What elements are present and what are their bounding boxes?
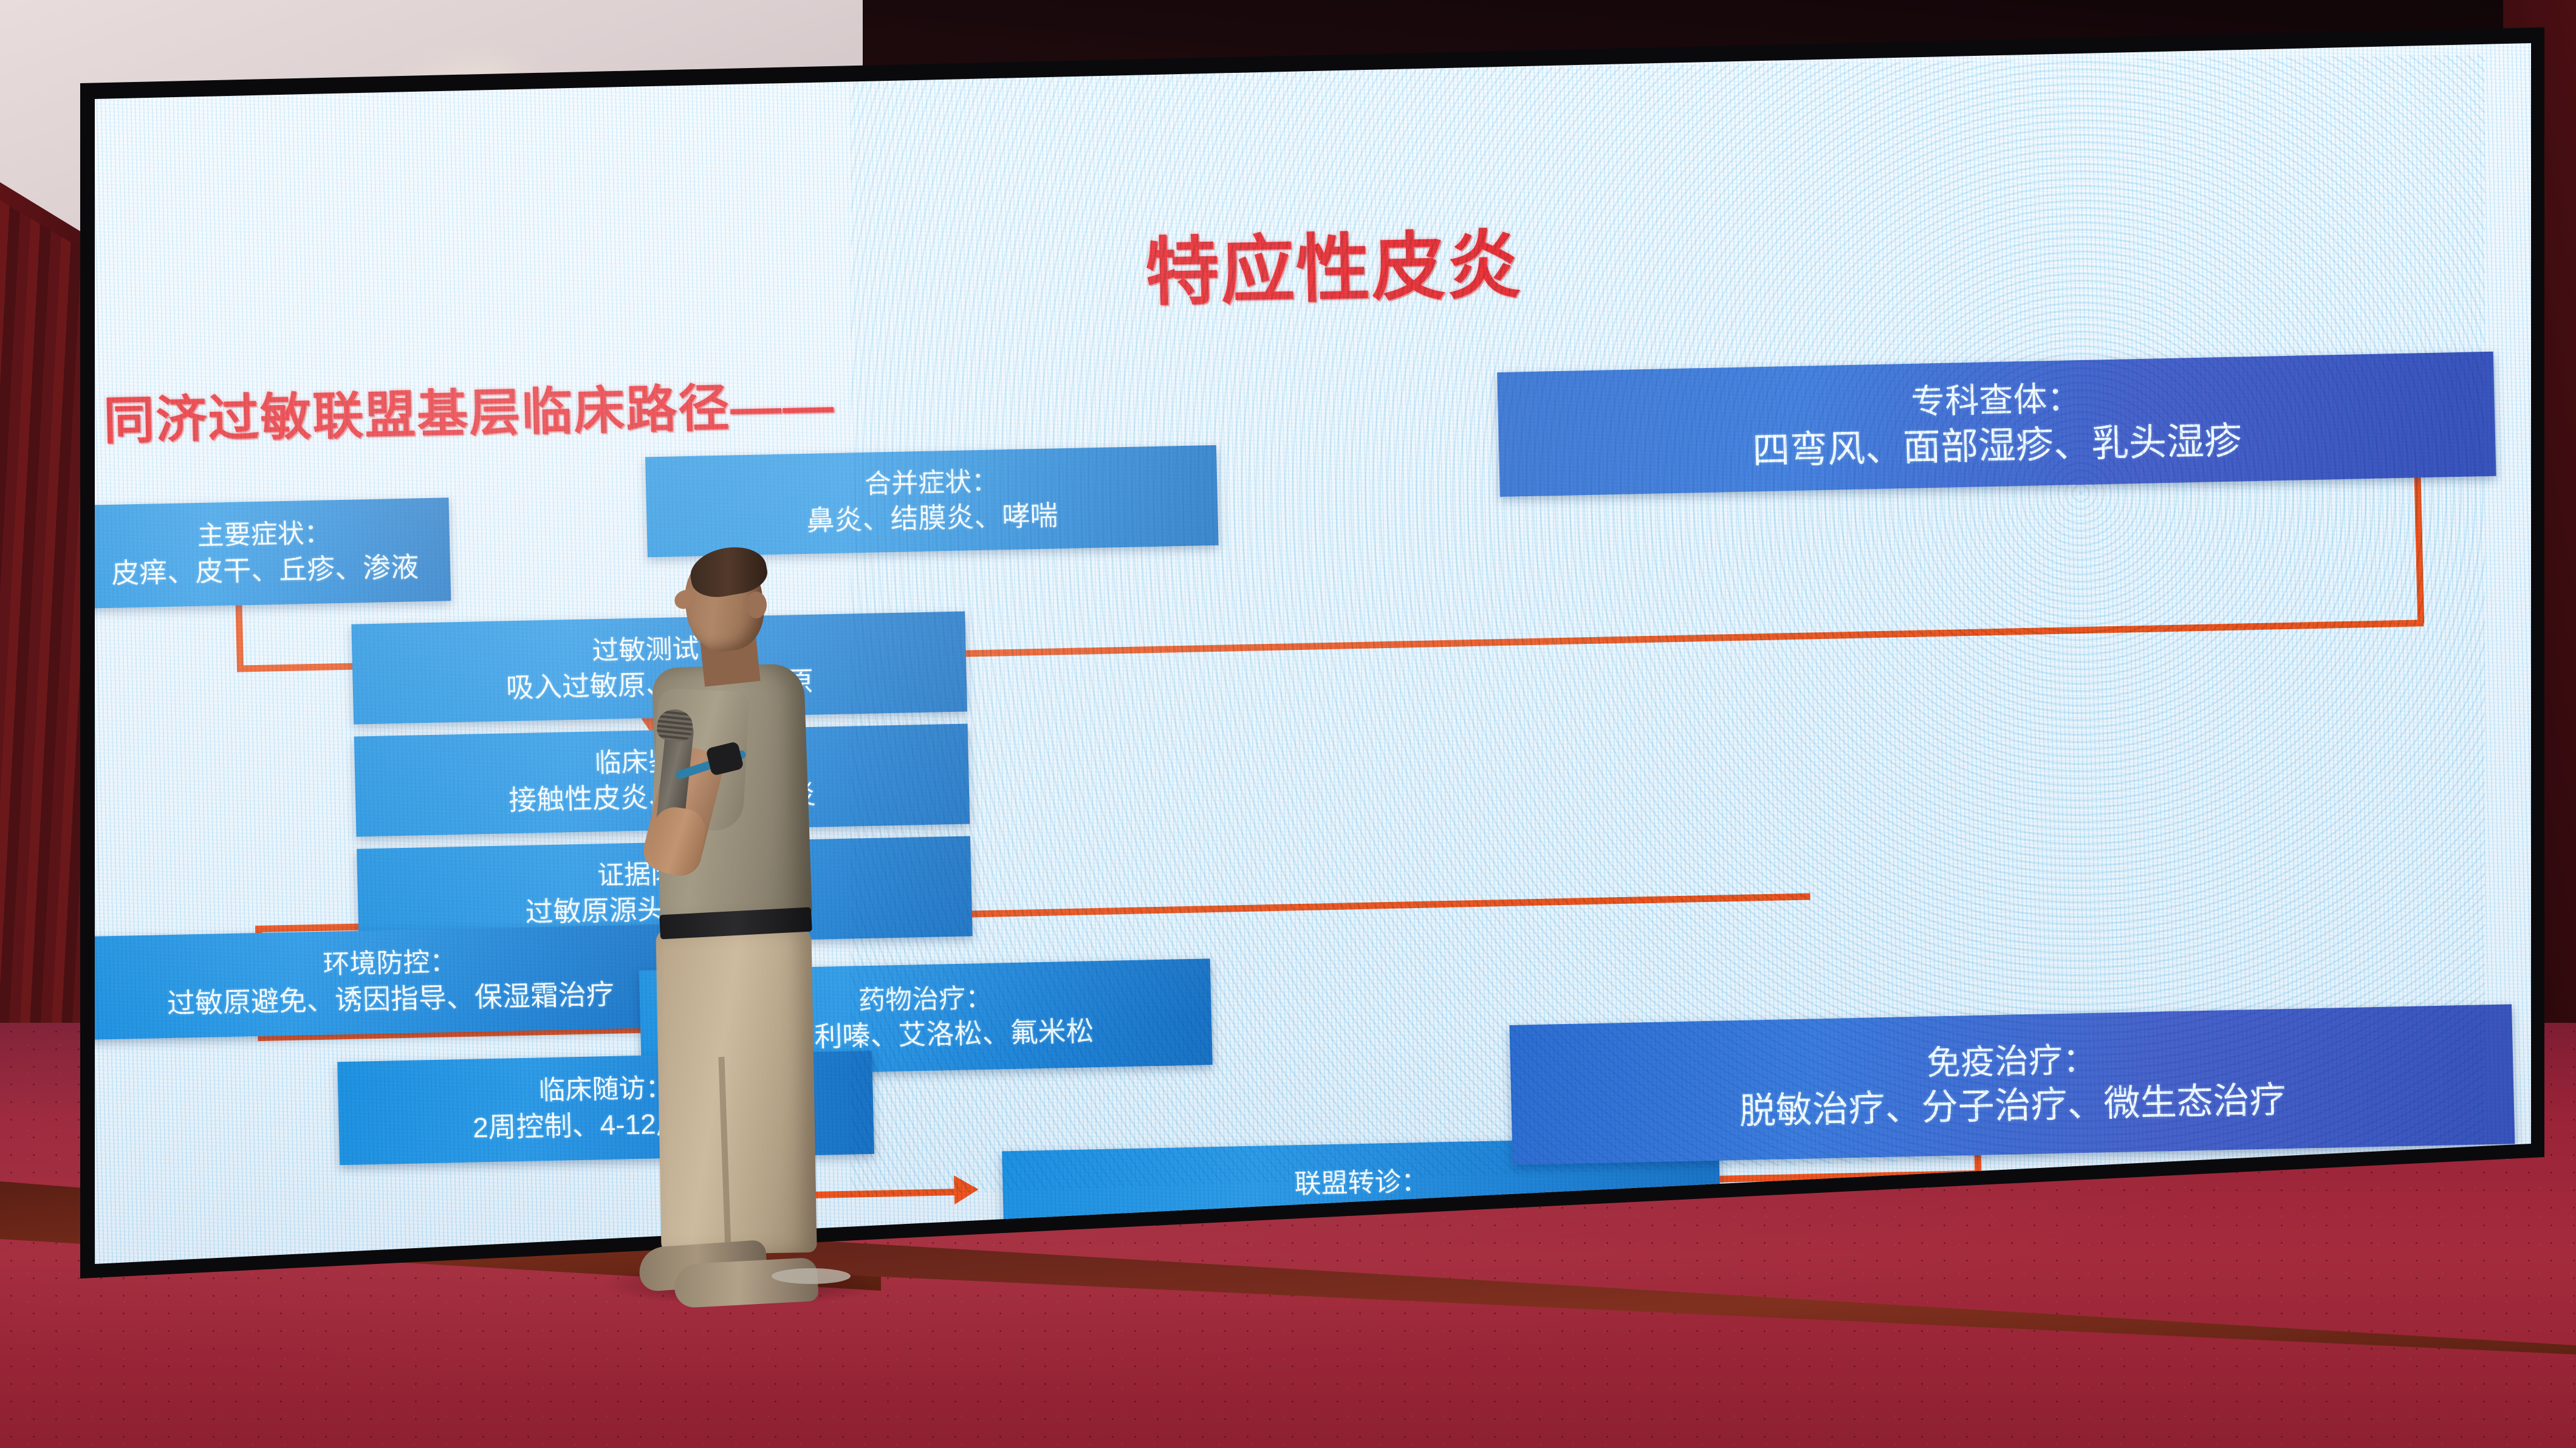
presenter-ear [746,592,767,618]
presenter [583,547,838,1312]
connector-line [235,599,244,672]
presenter-trousers [656,927,817,1255]
box-specialist-exam: 专科查体： 四弯风、面部湿疹、乳头湿疹 [1497,352,2496,497]
slide-title: 特应性皮炎 [1144,205,1523,320]
box-line-2: 四弯风、面部湿疹、乳头湿疹 [1752,417,2242,475]
box-line-2: 皮痒、皮干、丘疹、渗液 [111,549,419,591]
box-line-2: 过敏原避免、诱因指导、保湿霜治疗 [166,976,614,1021]
arrow-right-icon [954,1175,979,1204]
presentation-slide: 同济过敏联盟基层临床路径—— 特应性皮炎 主要症状： 皮痒、皮 [49,27,2552,1285]
box-line-1: 联盟转诊： [1294,1165,1428,1202]
box-line-1: 药物治疗： [858,982,993,1019]
box-line-1: 免疫治疗： [1926,1037,2097,1085]
floor-cable [772,1268,851,1284]
conference-photo: 同济过敏联盟基层临床路径—— 特应性皮炎 主要症状： 皮痒、皮 [0,0,2576,1448]
stage-curtain [0,200,82,1148]
box-line-2: 脱敏治疗、分子治疗、微生态治疗 [1739,1077,2287,1136]
box-line-1: 主要症状： [197,517,331,554]
box-comorbid-symptoms: 合并症状： 鼻炎、结膜炎、哮喘 [645,445,1219,558]
box-line-1: 环境防控： [323,946,457,983]
box-line-1: 合并症状： [864,465,998,502]
box-main-symptoms: 主要症状： 皮痒、皮干、丘疹、渗液 [78,497,451,609]
slide-subtitle: 同济过敏联盟基层临床路径—— [103,365,836,454]
box-immunotherapy: 免疫治疗： 脱敏治疗、分子治疗、微生态治疗 [1509,1004,2515,1164]
box-line-2: 鼻炎、结膜炎、哮喘 [806,498,1058,539]
box-line-1: 专科查体： [1911,377,2082,424]
connector-line [2414,471,2424,623]
